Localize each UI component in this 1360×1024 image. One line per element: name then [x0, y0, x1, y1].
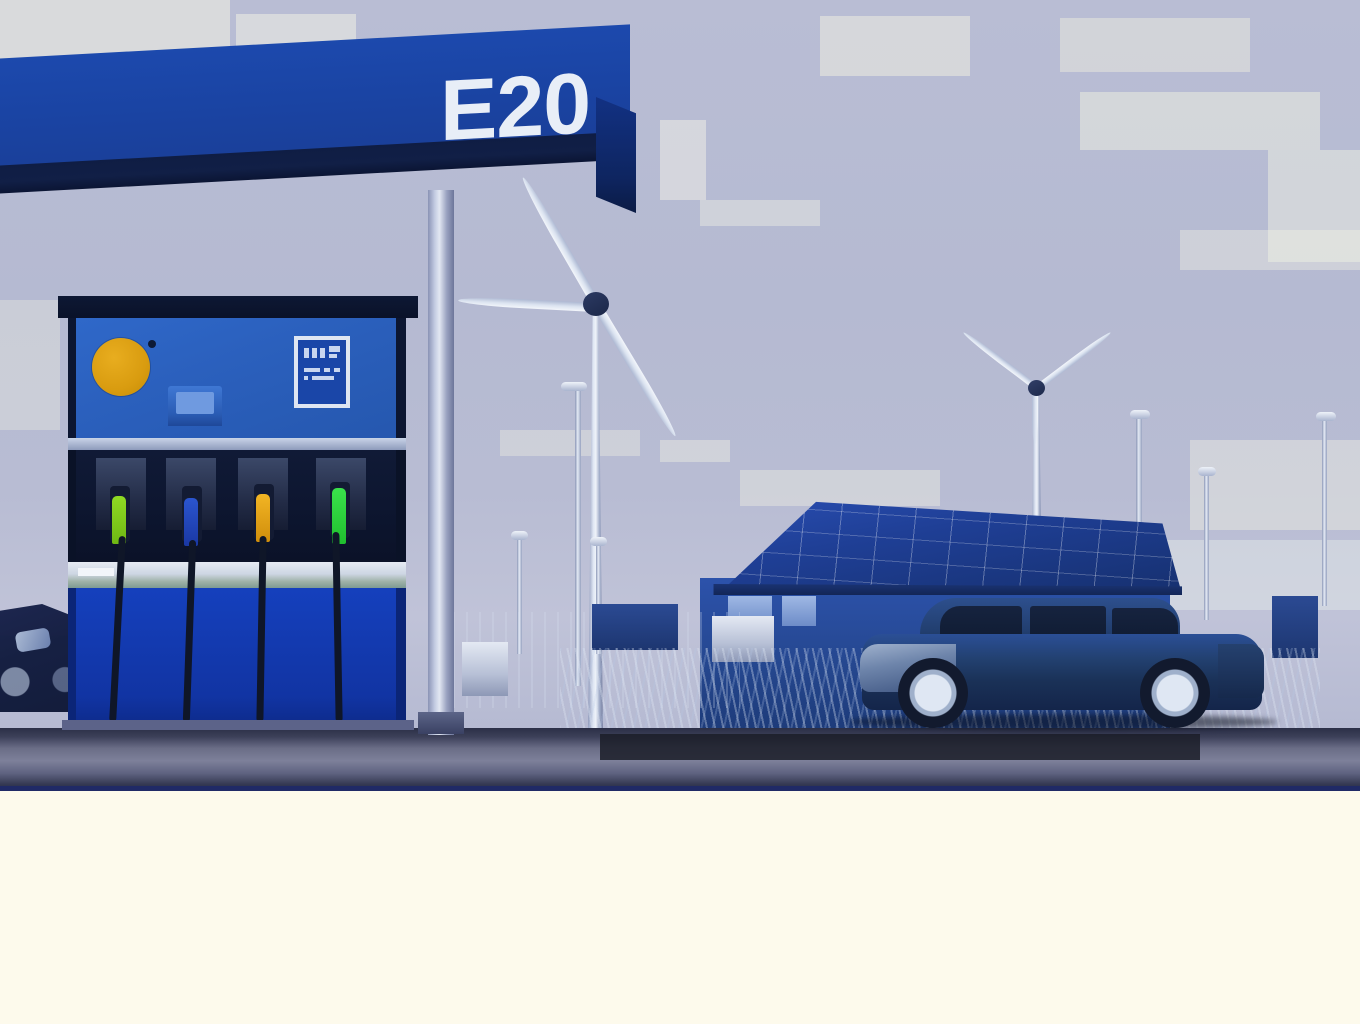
amber-lamp-mount [148, 340, 156, 348]
house-window [782, 596, 816, 626]
street-lamp-pole [1322, 416, 1327, 606]
wind-turbine-small-blade [962, 330, 1039, 390]
hero-photo: E20 [0, 0, 1360, 791]
placard-mark [320, 348, 325, 358]
placard-mark [304, 376, 308, 380]
placard-mark [329, 354, 337, 358]
wind-turbine-large-blade [594, 305, 679, 438]
dispenser-roof [58, 296, 418, 318]
placard-mark [334, 368, 340, 372]
equipment-box [462, 642, 508, 696]
dispenser-plinth [62, 720, 414, 730]
skyline-block [1190, 440, 1360, 530]
placard-mark [304, 368, 320, 372]
wind-turbine-small-hub [1028, 380, 1045, 396]
info-placard [298, 340, 346, 404]
placard-mark [312, 348, 317, 358]
wind-turbine-large-hub [583, 292, 609, 316]
fuel-canopy-return [596, 97, 636, 213]
fuel-nozzle-amber [256, 494, 270, 542]
dispenser-terminal-screen [176, 392, 214, 414]
placard-mark [312, 376, 334, 380]
skyline-block [1180, 230, 1360, 270]
street-lamp-head [1130, 410, 1150, 419]
canopy-column-base [418, 712, 464, 734]
skyline-block [700, 200, 820, 226]
wind-turbine-small-blade [1032, 388, 1038, 444]
wind-turbine-large-blade [458, 296, 594, 312]
caption-bar: INDIA'S PATH TOWARDS ENERGY TRANSITION I… [0, 791, 1360, 1024]
skyline-block [660, 120, 706, 200]
street-lamp-head [1316, 412, 1336, 421]
skyline-block [1060, 18, 1250, 72]
dispenser-shelf [68, 438, 406, 450]
placard-mark [304, 348, 309, 358]
skyline-block [820, 16, 970, 76]
wind-turbine-small-blade [1035, 330, 1112, 390]
street-lamp-head [1198, 467, 1216, 476]
street-lamp-head [511, 531, 528, 540]
dispenser-label-tag [78, 568, 114, 576]
parked-car [862, 592, 1272, 738]
placard-mark [324, 368, 330, 372]
car-wheel-front [898, 658, 968, 728]
fuel-dispenser [62, 296, 414, 728]
fuel-nozzle-blue [184, 498, 198, 546]
e20-sign-label: E20 [440, 62, 600, 152]
street-lamp-head [561, 382, 587, 391]
amber-lamp-icon [92, 338, 150, 396]
rooftop-solar-array [694, 496, 1182, 594]
car-rear [1218, 644, 1264, 698]
skyline-block [500, 430, 640, 456]
skyline-block [740, 470, 940, 506]
car-wheel-rear [1140, 658, 1210, 728]
street-lamp-head [590, 537, 607, 546]
equipment-box [592, 604, 678, 650]
poster-canvas: E20 [0, 0, 1360, 1024]
placard-mark [329, 346, 340, 352]
wind-turbine-large-blade [519, 175, 602, 309]
skyline-block [660, 440, 730, 462]
skyline-block [1080, 92, 1320, 150]
canopy-support-column [428, 190, 454, 735]
skyline-block [0, 300, 60, 430]
